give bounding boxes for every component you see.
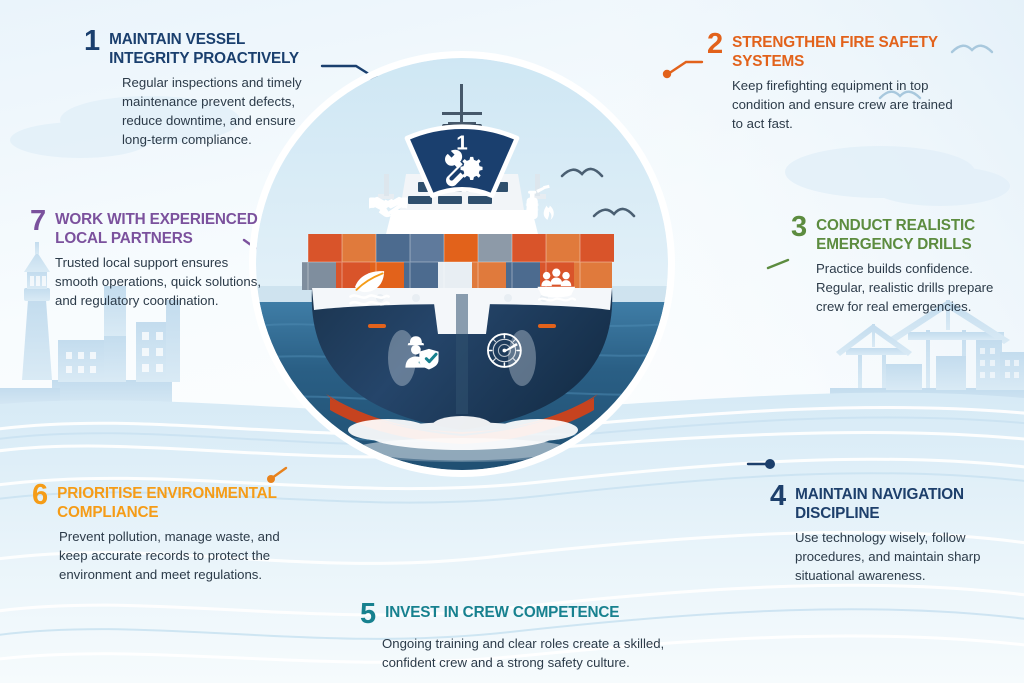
leader-line-2 (668, 62, 702, 74)
callout-2-head: 2 STRENGTHEN FIRE SAFETY SYSTEMS (707, 31, 957, 71)
port-building-windows (980, 348, 1019, 378)
callout-5-number: 5 (360, 601, 376, 629)
callout-4[interactable]: 4 MAINTAIN NAVIGATION DISCIPLINE Use tec… (770, 483, 1020, 585)
callout-5-head: 5 INVEST IN CREW COMPETENCE (360, 601, 680, 629)
callout-4-desc: Use technology wisely, follow procedures… (770, 528, 1020, 585)
leader-line-3 (768, 260, 788, 268)
callout-4-head: 4 MAINTAIN NAVIGATION DISCIPLINE (770, 483, 1020, 523)
fire-extinguisher-flame-icon (526, 185, 554, 220)
callout-2-desc: Keep firefighting equipment in top condi… (707, 76, 957, 133)
lifeboat-crew-icon (538, 269, 575, 301)
callout-6-number: 6 (32, 482, 48, 510)
officer-shield-check-icon (405, 336, 438, 369)
callout-4-number: 4 (770, 483, 786, 511)
leader-dot-4 (765, 459, 775, 469)
callout-3[interactable]: 3 CONDUCT REALISTIC EMERGENCY DRILLS Pra… (791, 214, 1019, 316)
handshake-icon (369, 197, 407, 217)
port-crane-silhouette (830, 300, 1024, 412)
callout-7-title: WORK WITH EXPERIENCED LOCAL PARTNERS (55, 208, 270, 248)
radar-compass-icon (488, 334, 521, 367)
callout-5-desc: Ongoing training and clear roles create … (360, 634, 680, 672)
callout-4-title: MAINTAIN NAVIGATION DISCIPLINE (795, 483, 1020, 523)
callout-6-desc: Prevent pollution, manage waste, and kee… (32, 527, 290, 584)
infographic-canvas: 1 1 MAINTAIN VESSEL INTEGRITY PROACTIVEL… (0, 0, 1024, 683)
callout-6-title: PRIORITISE ENVIRONMENTAL COMPLIANCE (57, 482, 290, 522)
callout-5-title: INVEST IN CREW COMPETENCE (385, 601, 619, 623)
callout-6-head: 6 PRIORITISE ENVIRONMENTAL COMPLIANCE (32, 482, 290, 522)
callout-1-title: MAINTAIN VESSEL INTEGRITY PROACTIVELY (109, 28, 319, 68)
callout-1-desc: Regular inspections and timely maintenan… (84, 73, 319, 149)
callout-3-title: CONDUCT REALISTIC EMERGENCY DRILLS (816, 214, 1019, 254)
callout-3-head: 3 CONDUCT REALISTIC EMERGENCY DRILLS (791, 214, 1019, 254)
callout-1-number: 1 (84, 28, 100, 56)
callout-3-number: 3 (791, 214, 807, 242)
callout-1[interactable]: 1 MAINTAIN VESSEL INTEGRITY PROACTIVELY … (84, 28, 319, 149)
wheel-number-1: 1 (456, 131, 468, 154)
callout-2-number: 2 (707, 31, 723, 59)
callout-7-desc: Trusted local support ensures smooth ope… (30, 253, 270, 310)
callout-7-number: 7 (30, 208, 46, 236)
callout-6[interactable]: 6 PRIORITISE ENVIRONMENTAL COMPLIANCE Pr… (32, 482, 290, 584)
callout-2-title: STRENGTHEN FIRE SAFETY SYSTEMS (732, 31, 957, 71)
callout-7-head: 7 WORK WITH EXPERIENCED LOCAL PARTNERS (30, 208, 270, 248)
callout-1-head: 1 MAINTAIN VESSEL INTEGRITY PROACTIVELY (84, 28, 319, 68)
callout-5[interactable]: 5 INVEST IN CREW COMPETENCE Ongoing trai… (360, 601, 680, 672)
callout-2[interactable]: 2 STRENGTHEN FIRE SAFETY SYSTEMS Keep fi… (707, 31, 957, 133)
leaf-water-icon (351, 271, 389, 304)
callout-7[interactable]: 7 WORK WITH EXPERIENCED LOCAL PARTNERS T… (30, 208, 270, 310)
callout-3-desc: Practice builds confidence. Regular, rea… (791, 259, 1019, 316)
